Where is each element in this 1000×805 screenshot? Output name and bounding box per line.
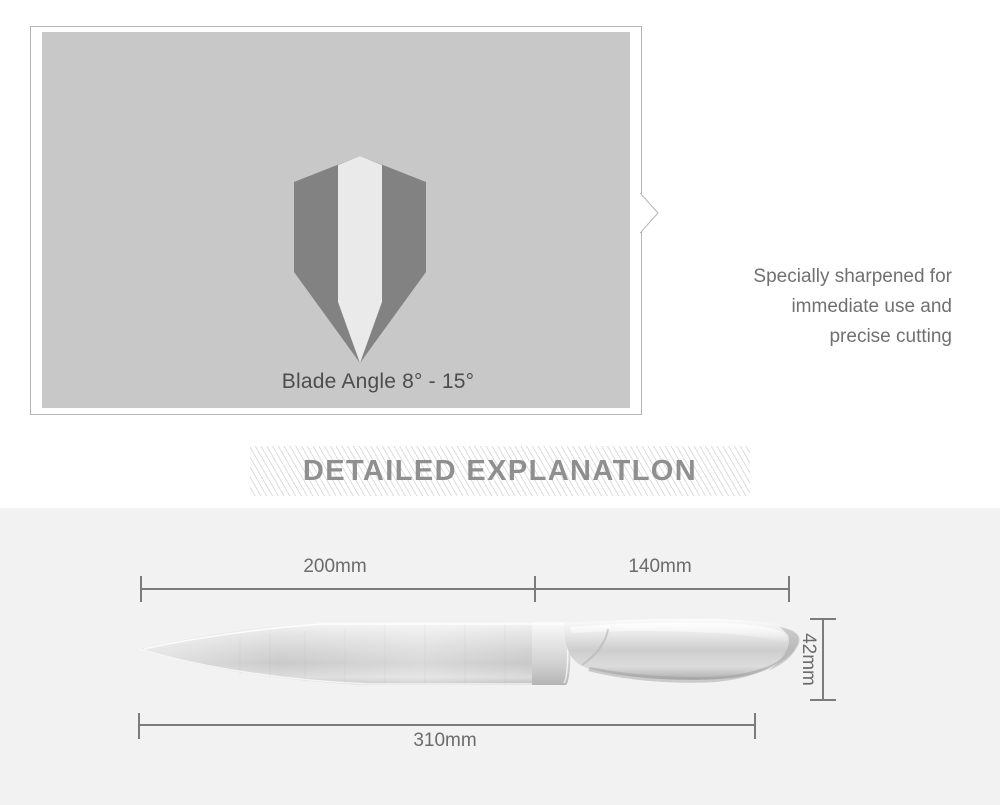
total-length-dimension-line xyxy=(139,724,756,726)
top-dimension-tick-middle xyxy=(534,576,536,602)
specification-section: 200mm 140mm xyxy=(0,508,1000,805)
description-line-2: immediate use and xyxy=(660,292,952,322)
section-title: DETAILED EXPLANATLON xyxy=(0,446,1000,496)
description-line-1: Specially sharpened for xyxy=(660,262,952,292)
blade-height-label: 42mm xyxy=(796,618,820,701)
blade-height-dimension-line xyxy=(822,618,824,701)
top-dimension-line xyxy=(140,588,790,590)
section-title-text: DETAILED EXPLANATLON xyxy=(295,455,705,488)
product-infographic-page: Blade Angle 8° - 15° Specially sharpened… xyxy=(0,0,1000,805)
feature-image-panel: Blade Angle 8° - 15° xyxy=(42,32,630,408)
total-length-tick-left xyxy=(138,713,140,739)
top-dimension-tick-right xyxy=(788,576,790,602)
top-dimension-tick-left xyxy=(140,576,142,602)
blade-angle-label: Blade Angle 8° - 15° xyxy=(84,370,672,394)
feature-description: Specially sharpened for immediate use an… xyxy=(660,262,952,352)
chef-knife-image xyxy=(120,603,820,708)
description-line-3: precise cutting xyxy=(660,322,952,352)
total-length-label: 310mm xyxy=(310,730,580,752)
feature-section: Blade Angle 8° - 15° Specially sharpened… xyxy=(0,0,1000,508)
callout-arrow-icon xyxy=(640,193,660,234)
total-length-tick-right xyxy=(754,713,756,739)
shield-blade-icon xyxy=(270,152,450,367)
blade-length-label: 200mm xyxy=(200,556,470,578)
handle-length-label: 140mm xyxy=(560,556,760,578)
section-banner: DETAILED EXPLANATLON xyxy=(0,446,1000,504)
